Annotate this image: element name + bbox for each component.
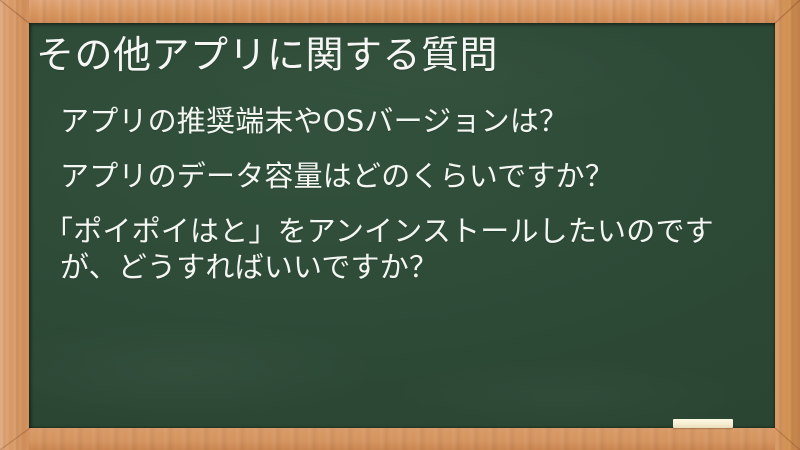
frame-rail-bottom	[0, 428, 800, 450]
chalkboard-slide: その他アプリに関する質問 アプリの推奨端末やOSバージョンは？ アプリのデータ容…	[0, 0, 800, 450]
frame-rail-left	[0, 0, 29, 450]
chalkboard: その他アプリに関する質問 アプリの推奨端末やOSバージョンは？ アプリのデータ容…	[29, 23, 775, 428]
chalk-stick	[673, 419, 733, 428]
list-item: アプリの推奨端末やOSバージョンは？	[36, 103, 760, 139]
frame-rail-top	[0, 0, 800, 23]
question-list: アプリの推奨端末やOSバージョンは？ アプリのデータ容量はどのくらいですか？ 「…	[36, 103, 760, 285]
list-item: アプリのデータ容量はどのくらいですか？	[36, 158, 760, 194]
page-title: その他アプリに関する質問	[36, 29, 756, 81]
frame-rail-right	[775, 0, 800, 450]
list-item: 「ポイポイはと」をアンインストールしたいのですが、どうすればいいですか？	[36, 213, 760, 285]
